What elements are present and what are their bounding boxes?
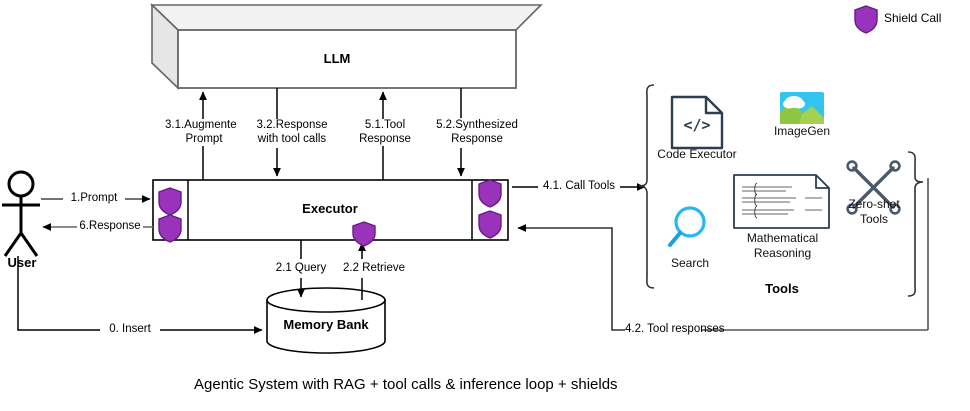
llm-top-face [152,5,541,30]
tool-label-imagegen: ImageGen [769,124,835,139]
shield-icon-executor-center [353,222,375,246]
tool-label-search: Search [661,256,719,271]
diagram-canvas: </> [0,0,970,411]
shield-icon-legend [855,6,877,33]
tools-right-brace [908,152,923,296]
magnifier-icon [670,208,704,245]
executor-box [153,180,508,240]
math-document-icon [734,175,829,228]
user-left-leg [5,233,21,256]
shield-icon-tool-response [479,211,501,238]
diagram-caption: Agentic System with RAG + tool calls & i… [194,376,618,393]
user-head [9,172,33,196]
shield-icon-executor-output [159,215,181,242]
tool-label-zero-shot-tools: Zero-shot Tools [841,197,907,226]
executor-node [153,180,508,240]
tools-left-brace [639,85,654,288]
shield-icon-executor-input [159,188,181,215]
llm-node [152,5,541,88]
user-actor [2,172,40,256]
edge-tool-responses-return [518,228,625,330]
user-right-leg [21,233,37,256]
tool-label-code-executor: Code Executor [650,147,744,162]
memory-bank-node [267,288,385,353]
memory-bank-top [267,288,385,312]
llm-front-face [178,30,516,88]
diagram-graphics: </> [0,0,970,411]
shield-icon-tool-call [479,180,501,207]
edge-insert-left [18,256,100,330]
code-file-icon: </> [672,97,722,148]
tool-label-mathematical-reasoning: Mathematical Reasoning [735,231,830,260]
svg-text:</>: </> [683,116,710,134]
image-picture-icon [780,92,824,124]
